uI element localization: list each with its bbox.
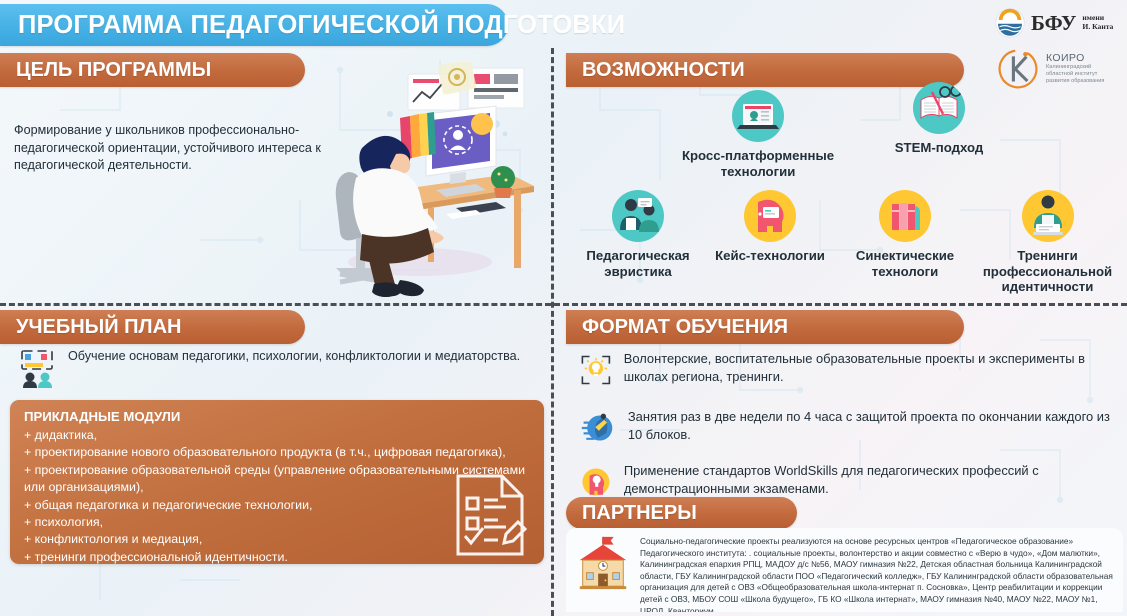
goal-text: Формирование у школьников профессиональн…: [14, 122, 324, 175]
book-glasses-icon: [913, 82, 965, 134]
format-item-worldskills: Применение стандартов WorldSkills для пе…: [580, 462, 1120, 502]
horizontal-divider-left: [0, 303, 551, 306]
applied-modules-box: ПРИКЛАДНЫЕ МОДУЛИ + дидактика, + проекти…: [10, 400, 544, 564]
horizontal-divider-right: [554, 303, 1127, 306]
infographic-canvas: ПРОГРАММА ПЕДАГОГИЧЕСКОЙ ПОДГОТОВКИ БФУ …: [0, 0, 1127, 616]
opportunity-item-stem: STEM-подход: [875, 82, 1003, 156]
bfu-line2: И. Канта: [1082, 23, 1113, 32]
format-item-text: Занятия раз в две недели по 4 часа с защ…: [628, 408, 1120, 444]
head-idea-icon: [744, 190, 796, 242]
presentation-board-icon: [18, 348, 58, 388]
koiro-sub3: развития образования: [1046, 78, 1104, 85]
section-header-plan-text: УЧЕБНЫЙ ПЛАН: [16, 316, 181, 339]
rocket-icon: [580, 408, 616, 448]
logo-bfu: БФУ имени И. Канта: [995, 8, 1113, 38]
plan-intro-text: Обучение основам педагогики, психологии,…: [68, 348, 520, 365]
desk-illustration: [300, 62, 550, 297]
vertical-divider: [551, 48, 554, 616]
head-bulb-icon: [580, 462, 612, 502]
bfu-emblem-icon: [995, 8, 1025, 38]
koiro-sub1: Калининградский: [1046, 64, 1104, 71]
opportunity-label: Кейс-технологии: [702, 248, 838, 264]
checklist-document-icon: [452, 472, 528, 558]
koiro-name: КОИРО: [1046, 52, 1104, 64]
format-item-text: Волонтерские, воспитательные образовател…: [624, 350, 1120, 386]
section-header-format: ФОРМАТ ОБУЧЕНИЯ: [566, 310, 964, 344]
section-header-format-text: ФОРМАТ ОБУЧЕНИЯ: [582, 316, 788, 339]
module-item: + проектирование нового образовательного…: [24, 444, 530, 461]
section-header-partners-text: ПАРТНЕРЫ: [582, 502, 697, 525]
bfu-abbr: БФУ: [1031, 13, 1076, 34]
format-item-projects: Волонтерские, воспитательные образовател…: [580, 350, 1120, 390]
person-laptop-icon: [1022, 190, 1074, 242]
section-header-partners: ПАРТНЕРЫ: [566, 497, 797, 529]
opportunity-item-cross-platform: Кросс-платформенные технологии: [678, 90, 838, 179]
format-item-schedule: Занятия раз в две недели по 4 часа с защ…: [580, 408, 1120, 448]
bulb-gear-icon: [580, 350, 612, 390]
module-item: + дидактика,: [24, 427, 530, 444]
koiro-sub2: областной институт: [1046, 71, 1104, 78]
plan-intro-row: Обучение основам педагогики, психологии,…: [18, 348, 538, 388]
opportunity-item-heuristics: Педагогическая эвристика: [570, 190, 706, 279]
section-header-goal: ЦЕЛЬ ПРОГРАММЫ: [0, 53, 305, 87]
opportunity-item-case-tech: Кейс-технологии: [702, 190, 838, 264]
section-header-goal-text: ЦЕЛЬ ПРОГРАММЫ: [16, 59, 211, 82]
logo-koiro: КОИРО Калининградский областной институт…: [995, 45, 1104, 91]
section-header-plan: УЧЕБНЫЙ ПЛАН: [0, 310, 305, 344]
section-header-opportunities-text: ВОЗМОЖНОСТИ: [582, 59, 745, 82]
partners-text: Социально-педагогические проекты реализу…: [640, 534, 1115, 612]
opportunity-label: Синектические технологи: [838, 248, 972, 279]
partners-box: Социально-педагогические проекты реализу…: [566, 528, 1123, 612]
opportunity-label: Тренинги профессиональной идентичности: [968, 248, 1127, 295]
page-title: ПРОГРАММА ПЕДАГОГИЧЕСКОЙ ПОДГОТОВКИ: [0, 4, 508, 46]
opportunity-item-trainings: Тренинги профессиональной идентичности: [968, 190, 1127, 295]
opportunity-label: Педагогическая эвристика: [570, 248, 706, 279]
opportunity-label: Кросс-платформенные технологии: [678, 148, 838, 179]
two-people-chat-icon: [612, 190, 664, 242]
laptop-icon: [732, 90, 784, 142]
opportunity-label: STEM-подход: [875, 140, 1003, 156]
format-item-text: Применение стандартов WorldSkills для пе…: [624, 462, 1120, 498]
school-building-icon: [574, 534, 632, 592]
applied-modules-title: ПРИКЛАДНЫЕ МОДУЛИ: [24, 409, 530, 424]
page-title-text: ПРОГРАММА ПЕДАГОГИЧЕСКОЙ ПОДГОТОВКИ: [18, 11, 625, 40]
opportunity-item-synectics: Синектические технологи: [838, 190, 972, 279]
books-icon: [879, 190, 931, 242]
